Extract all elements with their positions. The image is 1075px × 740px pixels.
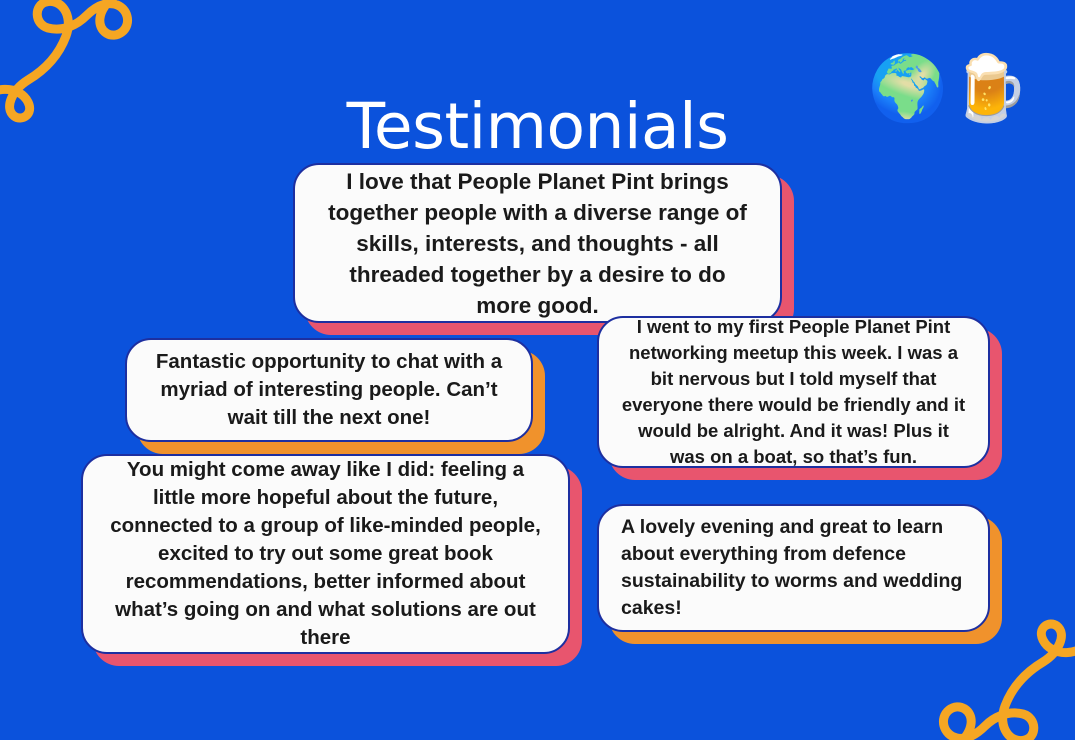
testimonial-card: A lovely evening and great to learn abou… — [597, 504, 990, 632]
testimonial-text: I went to my first People Planet Pint ne… — [621, 314, 966, 470]
beer-glass-icon: 🍺 — [950, 57, 1030, 121]
testimonial-card: I went to my first People Planet Pint ne… — [597, 316, 990, 468]
testimonial-text: A lovely evening and great to learn abou… — [621, 514, 966, 622]
testimonial-card: Fantastic opportunity to chat with a myr… — [125, 338, 533, 442]
testimonial-text: Fantastic opportunity to chat with a myr… — [149, 348, 509, 432]
emoji-decoration-group: 🌍 🍺 — [868, 57, 1029, 121]
testimonials-slide: Testimonials 🌍 🍺 I love that People Plan… — [0, 0, 1075, 740]
testimonial-card: I love that People Planet Pint brings to… — [293, 163, 782, 323]
testimonial-text: You might come away like I did: feeling … — [107, 456, 544, 652]
globe-icon: 🌍 — [868, 57, 948, 121]
testimonial-text: I love that People Planet Pint brings to… — [321, 166, 754, 321]
testimonial-card: You might come away like I did: feeling … — [81, 454, 570, 654]
